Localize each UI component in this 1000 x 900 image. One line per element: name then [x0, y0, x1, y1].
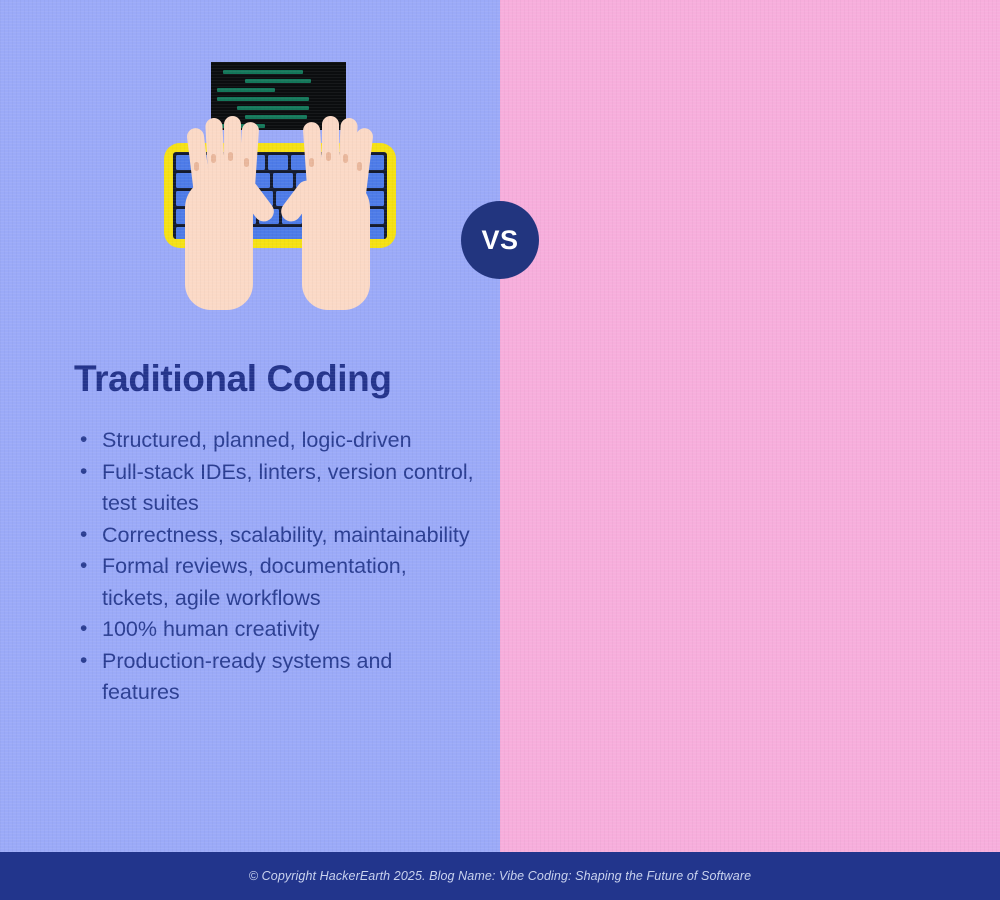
list-item: 100% human creativity — [76, 614, 476, 646]
versus-badge-label: VS — [481, 225, 518, 256]
hands-typing-illustration — [150, 50, 410, 310]
footer-bar: © Copyright HackerEarth 2025. Blog Name:… — [0, 852, 1000, 900]
copyright-text: © Copyright HackerEarth 2025. Blog Name:… — [249, 869, 751, 883]
list-item: Correctness, scalability, maintainabilit… — [76, 520, 476, 552]
infographic-canvas: Traditional Coding Structured, planned, … — [0, 0, 1000, 900]
list-item: Production-ready systems and features — [76, 646, 476, 709]
list-item: Formal reviews, documentation, tickets, … — [76, 551, 476, 614]
list-item: Full-stack IDEs, linters, version contro… — [76, 457, 476, 520]
bullet-list-traditional: Structured, planned, logic-driven Full-s… — [76, 425, 476, 709]
list-item: Structured, planned, logic-driven — [76, 425, 476, 457]
page-title-traditional: Traditional Coding — [74, 358, 392, 400]
panel-traditional-coding: Traditional Coding Structured, planned, … — [0, 0, 500, 852]
versus-badge: VS — [461, 201, 539, 279]
panel-vibe-coding: Vibe Coding Intuitive, spontaneous, flow… — [500, 0, 1000, 852]
